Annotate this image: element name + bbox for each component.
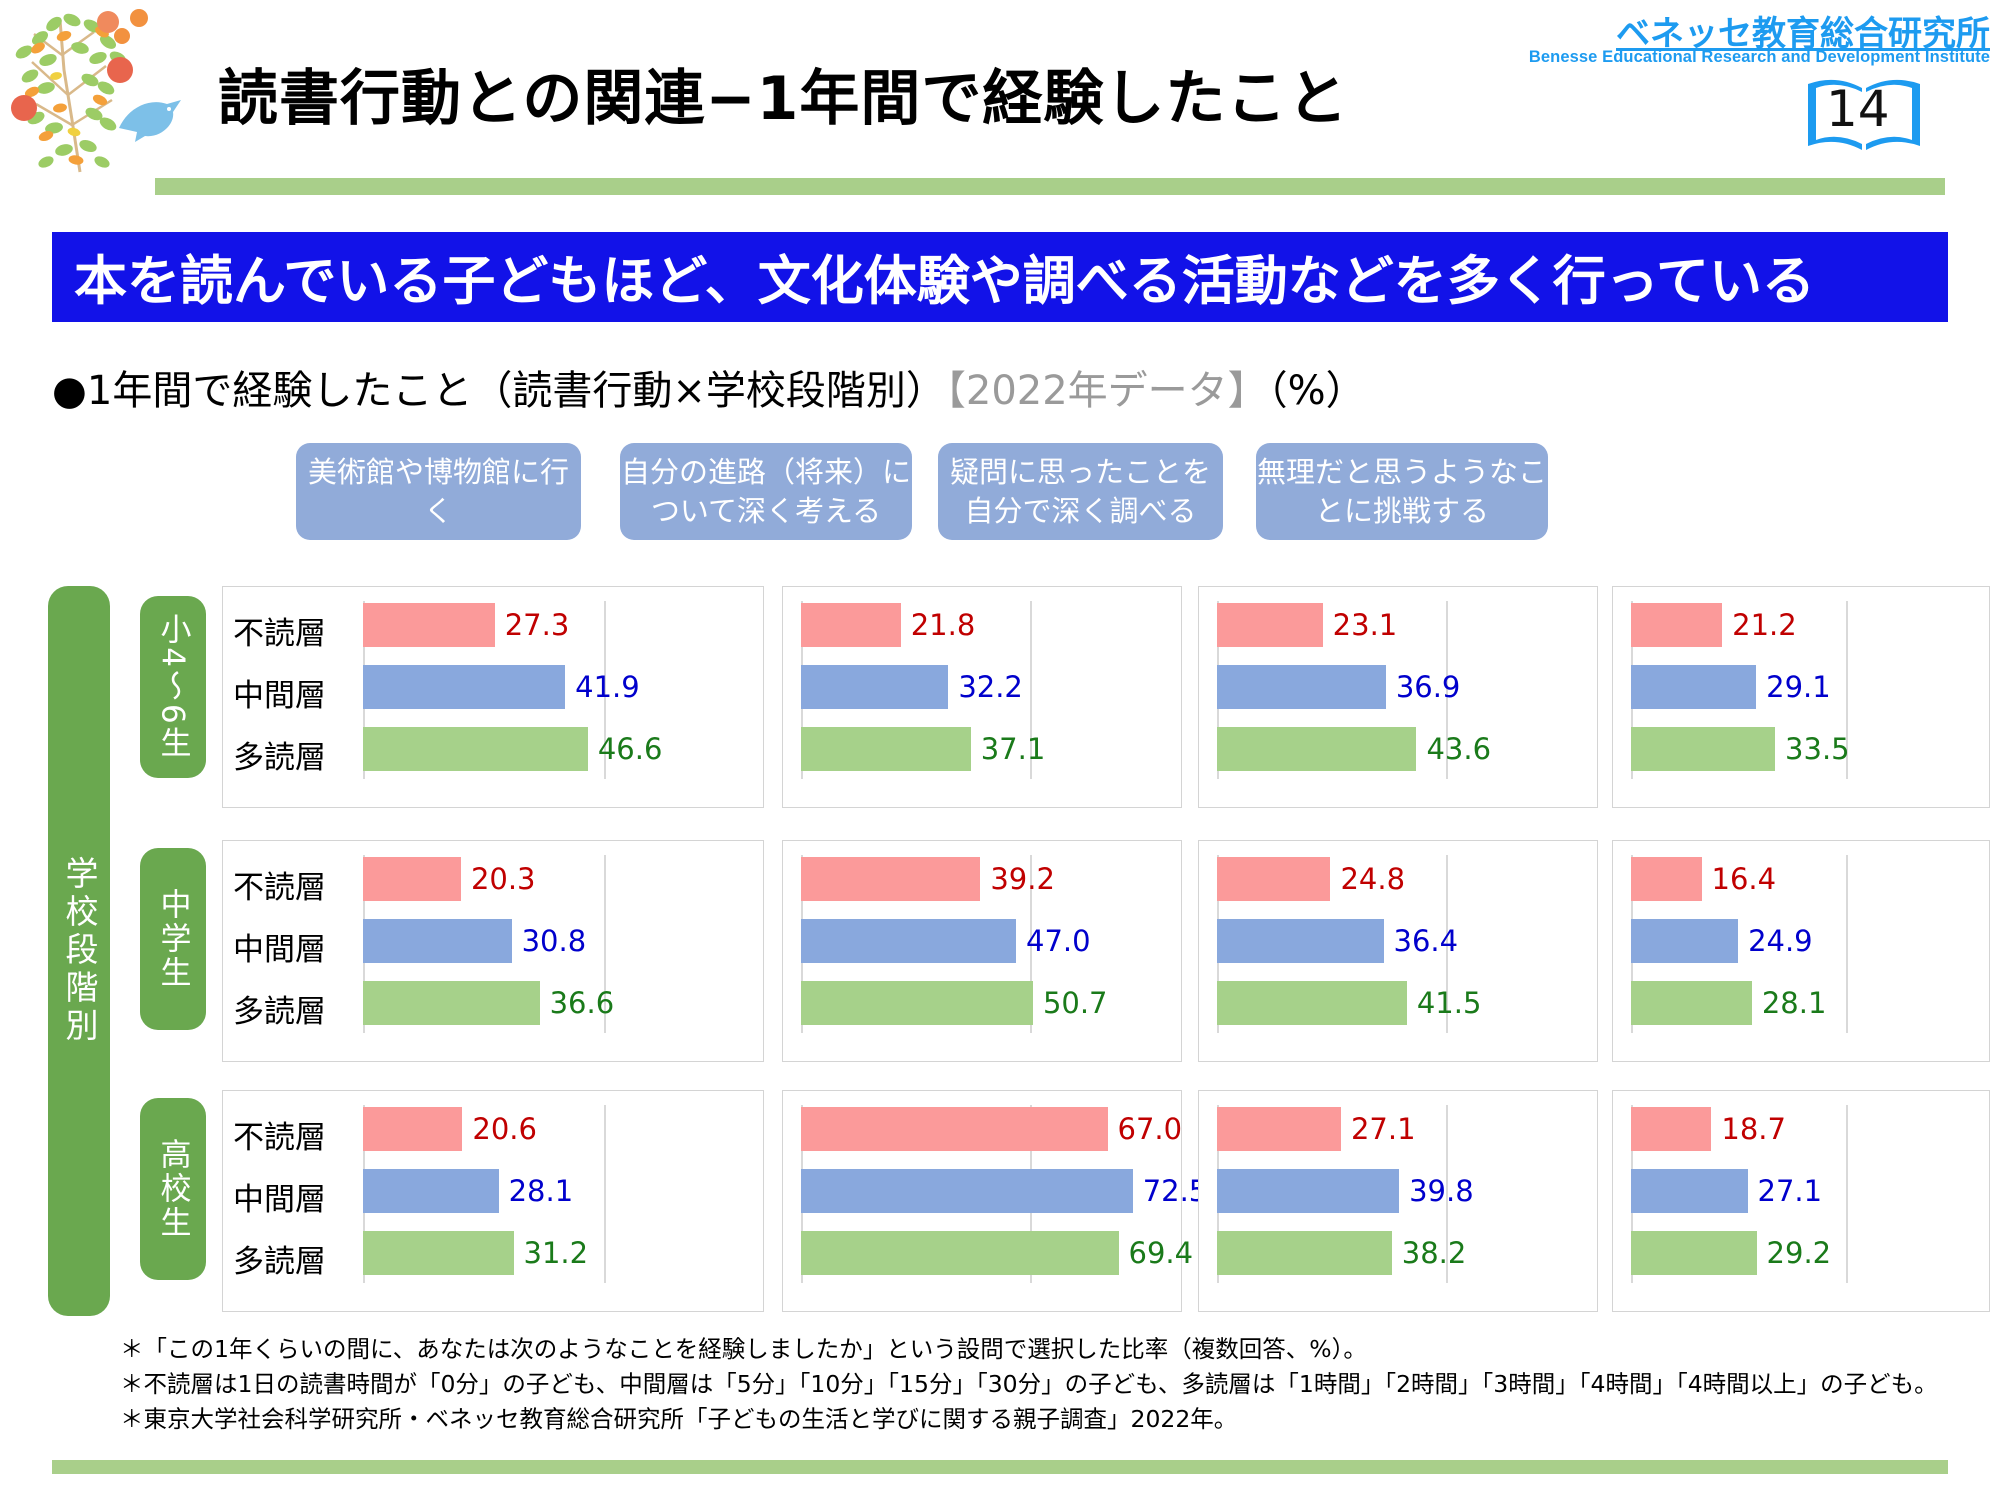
category-label-0: 不読層 (233, 608, 326, 653)
bird-icon (115, 88, 185, 143)
category-label-0: 不読層 (233, 1112, 326, 1157)
bar-row-2: 46.6 (363, 727, 749, 771)
bar-多読層 (801, 1231, 1119, 1275)
bar-row-2: 50.7 (801, 981, 1167, 1025)
bar-中間層 (801, 1169, 1133, 1213)
footer-divider (52, 1460, 1948, 1474)
bar-中間層 (1631, 919, 1738, 963)
bar-中間層 (363, 919, 512, 963)
bar-row-0: 39.2 (801, 857, 1167, 901)
bar-多読層 (1631, 1231, 1757, 1275)
subtitle-unit: （%） (1268, 368, 1366, 414)
bar-row-0: 21.2 (1631, 603, 1975, 647)
slide-header: 読書行動との関連−1年間で経験したこと ベネッセ教育総合研究所 Benesse … (0, 0, 2000, 200)
bar-row-0: 24.8 (1217, 857, 1583, 901)
bar-中間層 (801, 665, 948, 709)
key-message-banner: 本を読んでいる子どもほど、文化体験や調べる活動などを多く行っている (52, 232, 1948, 322)
bar-row-2: 31.2 (363, 1231, 749, 1275)
bar-多読層 (1631, 981, 1752, 1025)
bar-value-label: 46.6 (598, 732, 663, 766)
row-group-label-2: 高校生 (140, 1098, 206, 1280)
bar-row-1: 36.4 (1217, 919, 1583, 963)
chart-panel-r2-c1: 67.072.569.4 (782, 1090, 1182, 1312)
bar-row-2: 37.1 (801, 727, 1167, 771)
bar-row-1: 72.5 (801, 1169, 1167, 1213)
page-number: 14 (1826, 80, 1888, 138)
bar-中間層 (801, 919, 1016, 963)
axis-label-school-stage: 学校段階別 (48, 586, 110, 1316)
bar-不読層 (1631, 1107, 1711, 1151)
category-label-0: 不読層 (233, 862, 326, 907)
bar-value-label: 33.5 (1785, 732, 1850, 766)
bar-中間層 (1217, 665, 1386, 709)
bar-row-0: 20.6 (363, 1107, 749, 1151)
bar-value-label: 69.4 (1129, 1236, 1194, 1270)
bar-value-label: 24.9 (1748, 924, 1813, 958)
logo-en-text: Benesse Educational Research and Develop… (1529, 48, 1990, 67)
bar-不読層 (801, 857, 980, 901)
bar-row-1: 47.0 (801, 919, 1167, 963)
bar-不読層 (1631, 603, 1722, 647)
bar-row-2: 43.6 (1217, 727, 1583, 771)
category-label-2: 多読層 (233, 986, 326, 1031)
bar-row-1: 28.1 (363, 1169, 749, 1213)
column-header-text: 美術館や博物館に行く (296, 453, 581, 530)
bar-value-label: 36.6 (550, 986, 615, 1020)
bar-不読層 (801, 1107, 1108, 1151)
bar-value-label: 27.1 (1351, 1112, 1416, 1146)
slide-root: 読書行動との関連−1年間で経験したこと ベネッセ教育総合研究所 Benesse … (0, 0, 2000, 1500)
bar-row-0: 16.4 (1631, 857, 1975, 901)
category-label-1: 中間層 (233, 924, 326, 969)
chart-panel-r2-c0: 不読層中間層多読層20.628.131.2 (222, 1090, 764, 1312)
bar-多読層 (801, 727, 971, 771)
bar-row-1: 24.9 (1631, 919, 1975, 963)
chart-panel-r0-c3: 21.229.133.5 (1612, 586, 1990, 808)
bar-row-2: 36.6 (363, 981, 749, 1025)
bar-row-1: 36.9 (1217, 665, 1583, 709)
bar-value-label: 67.0 (1118, 1112, 1183, 1146)
bar-row-1: 27.1 (1631, 1169, 1975, 1213)
bar-value-label: 20.6 (472, 1112, 537, 1146)
bar-row-0: 27.3 (363, 603, 749, 647)
bar-value-label: 23.1 (1333, 608, 1398, 642)
chart-panel-r0-c1: 21.832.237.1 (782, 586, 1182, 808)
bar-value-label: 39.8 (1409, 1174, 1474, 1208)
bar-value-label: 29.2 (1767, 1236, 1832, 1270)
chart-panel-r2-c3: 18.727.129.2 (1612, 1090, 1990, 1312)
bar-不読層 (363, 603, 495, 647)
page-title: 読書行動との関連−1年間で経験したこと (218, 50, 1348, 137)
bar-不読層 (1217, 1107, 1341, 1151)
row-group-label-text: 高校生 (151, 1138, 196, 1240)
chart-panel-r1-c3: 16.424.928.1 (1612, 840, 1990, 1062)
bar-不読層 (1217, 857, 1330, 901)
footnotes: ＊「この1年くらいの間に、あなたは次のようなことを経験しましたか」という設問で選… (120, 1332, 1970, 1436)
axis-label-school-stage-text: 学校段階別 (55, 856, 103, 1046)
subtitle-year: 【2022年データ】 (946, 368, 1268, 414)
bar-value-label: 30.8 (522, 924, 587, 958)
bar-多読層 (1217, 727, 1416, 771)
bar-多読層 (801, 981, 1033, 1025)
bar-value-label: 41.5 (1417, 986, 1482, 1020)
bar-row-2: 28.1 (1631, 981, 1975, 1025)
bar-row-2: 69.4 (801, 1231, 1167, 1275)
bar-row-1: 29.1 (1631, 665, 1975, 709)
bar-中間層 (1631, 665, 1756, 709)
bar-多読層 (1631, 727, 1775, 771)
bar-多読層 (363, 981, 540, 1025)
bar-value-label: 50.7 (1043, 986, 1108, 1020)
bar-中間層 (1217, 1169, 1399, 1213)
bar-row-0: 21.8 (801, 603, 1167, 647)
brand-logo: ベネッセ教育総合研究所 Benesse Educational Research… (1572, 4, 1992, 154)
bar-row-1: 41.9 (363, 665, 749, 709)
category-label-1: 中間層 (233, 1174, 326, 1219)
bar-row-0: 23.1 (1217, 603, 1583, 647)
bar-row-0: 20.3 (363, 857, 749, 901)
row-group-label-text: 小4〜6生 (151, 613, 196, 760)
bar-value-label: 43.6 (1426, 732, 1491, 766)
bar-value-label: 28.1 (1762, 986, 1827, 1020)
bar-value-label: 24.8 (1340, 862, 1405, 896)
bar-row-2: 33.5 (1631, 727, 1975, 771)
row-group-label-0: 小4〜6生 (140, 596, 206, 778)
bar-value-label: 21.8 (911, 608, 976, 642)
bar-不読層 (801, 603, 901, 647)
bar-value-label: 21.2 (1732, 608, 1797, 642)
bar-value-label: 16.4 (1712, 862, 1777, 896)
bar-中間層 (1217, 919, 1384, 963)
footnote-3: ＊東京大学社会科学研究所・ベネッセ教育総合研究所「子どもの生活と学びに関する親子… (120, 1402, 1970, 1437)
bar-不読層 (363, 1107, 462, 1151)
bar-row-0: 18.7 (1631, 1107, 1975, 1151)
bar-value-label: 39.2 (990, 862, 1055, 896)
chart-panel-r1-c1: 39.247.050.7 (782, 840, 1182, 1062)
key-message-text: 本を読んでいる子どもほど、文化体験や調べる活動などを多く行っている (74, 239, 1815, 315)
bar-多読層 (1217, 981, 1407, 1025)
bar-row-2: 41.5 (1217, 981, 1583, 1025)
bar-row-0: 27.1 (1217, 1107, 1583, 1151)
column-header-text: 疑問に思ったことを自分で深く調べる (938, 453, 1223, 530)
bar-中間層 (1631, 1169, 1748, 1213)
chart-panel-r2-c2: 27.139.838.2 (1198, 1090, 1598, 1312)
bar-value-label: 29.1 (1766, 670, 1831, 704)
chart-panel-r1-c0: 不読層中間層多読層20.330.836.6 (222, 840, 764, 1062)
chart-panel-r0-c0: 不読層中間層多読層27.341.946.6 (222, 586, 764, 808)
header-divider (155, 178, 1945, 195)
bar-多読層 (1217, 1231, 1392, 1275)
chart-subtitle: ●1年間で経験したこと（読書行動×学校段階別）【2022年データ】（%） (52, 358, 1366, 416)
subtitle-main: 1年間で経験したこと（読書行動×学校段階別） (87, 368, 946, 414)
bar-value-label: 37.1 (981, 732, 1046, 766)
chart-panel-r1-c2: 24.836.441.5 (1198, 840, 1598, 1062)
column-header-1: 自分の進路（将来）について深く考える (620, 443, 912, 540)
bar-value-label: 36.4 (1394, 924, 1459, 958)
footnote-2: ＊不読層は1日の読書時間が「0分」の子ども、中間層は「5分」「10分」「15分」… (120, 1367, 1970, 1402)
bar-value-label: 31.2 (524, 1236, 589, 1270)
bar-中間層 (363, 665, 565, 709)
bar-value-label: 28.1 (509, 1174, 574, 1208)
category-label-2: 多読層 (233, 1236, 326, 1281)
column-header-text: 無理だと思うようなことに挑戦する (1256, 453, 1548, 530)
category-label-1: 中間層 (233, 670, 326, 715)
bar-value-label: 27.3 (505, 608, 570, 642)
row-group-label-1: 中学生 (140, 848, 206, 1030)
category-label-2: 多読層 (233, 732, 326, 777)
column-header-0: 美術館や博物館に行く (296, 443, 581, 540)
bar-value-label: 27.1 (1758, 1174, 1823, 1208)
bar-不読層 (1217, 603, 1323, 647)
bar-row-1: 30.8 (363, 919, 749, 963)
bar-不読層 (363, 857, 461, 901)
bar-row-1: 39.8 (1217, 1169, 1583, 1213)
chart-panel-r0-c2: 23.136.943.6 (1198, 586, 1598, 808)
bar-value-label: 18.7 (1721, 1112, 1786, 1146)
bar-中間層 (363, 1169, 499, 1213)
column-header-text: 自分の進路（将来）について深く考える (620, 453, 912, 530)
bar-value-label: 20.3 (471, 862, 536, 896)
bar-不読層 (1631, 857, 1702, 901)
bar-value-label: 41.9 (575, 670, 640, 704)
bar-value-label: 38.2 (1402, 1236, 1467, 1270)
footnote-1: ＊「この1年くらいの間に、あなたは次のようなことを経験しましたか」という設問で選… (120, 1332, 1970, 1367)
row-group-label-text: 中学生 (151, 888, 196, 990)
bar-row-2: 29.2 (1631, 1231, 1975, 1275)
bar-row-2: 38.2 (1217, 1231, 1583, 1275)
bar-row-1: 32.2 (801, 665, 1167, 709)
bar-value-label: 36.9 (1396, 670, 1461, 704)
bar-多読層 (363, 727, 588, 771)
column-header-2: 疑問に思ったことを自分で深く調べる (938, 443, 1223, 540)
column-header-3: 無理だと思うようなことに挑戦する (1256, 443, 1548, 540)
subtitle-bullet: ● (52, 368, 87, 414)
bar-row-0: 67.0 (801, 1107, 1167, 1151)
bar-多読層 (363, 1231, 514, 1275)
bar-value-label: 32.2 (958, 670, 1023, 704)
bar-value-label: 47.0 (1026, 924, 1091, 958)
